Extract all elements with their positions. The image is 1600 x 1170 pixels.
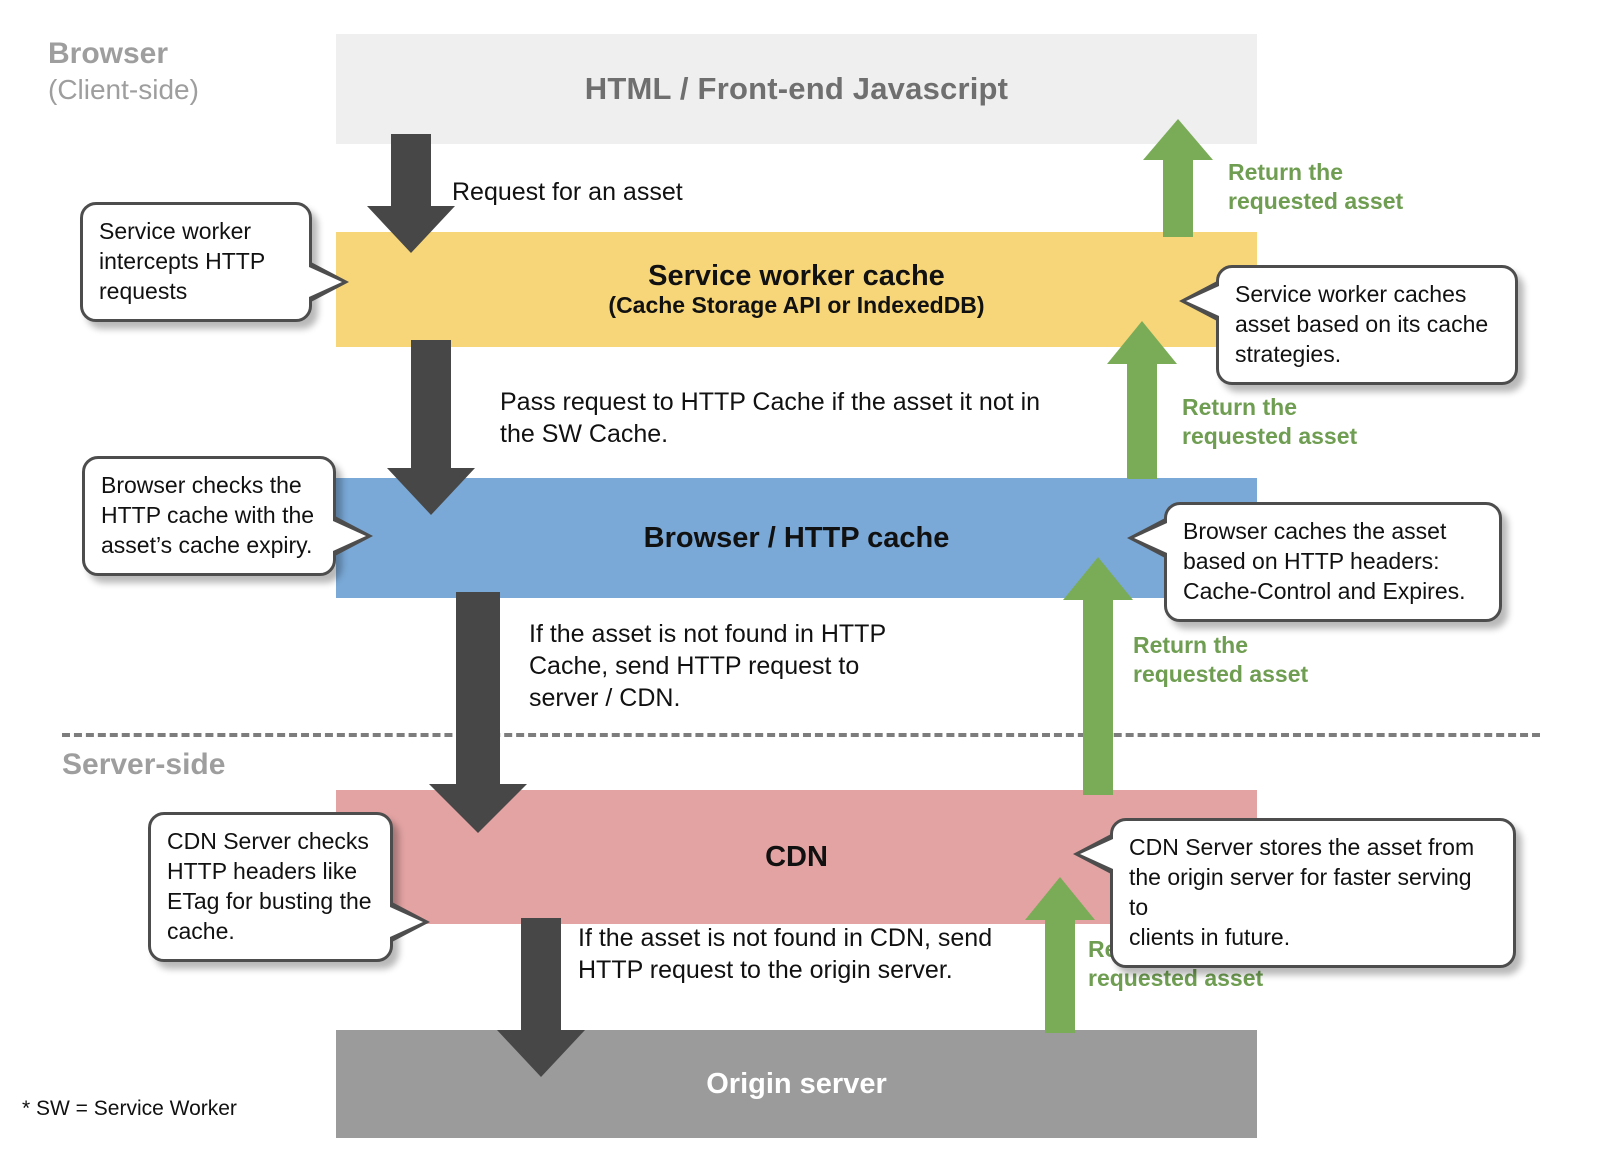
callout-cdn-check-line1: CDN Server checks	[167, 827, 374, 857]
note-not-found-cdn-line2: HTTP request to the origin server.	[578, 954, 992, 986]
callout-service-worker-intercepts: Service worker intercepts HTTP requests	[80, 202, 312, 322]
note-pass-request-line2: the SW Cache.	[500, 418, 1040, 450]
return-arrow-sw-to-html-icon	[1142, 118, 1214, 238]
callout-sw-caches-line2: asset based on its cache	[1235, 310, 1499, 340]
client-side-label-line2: (Client-side)	[48, 73, 199, 107]
note-request-for-an-asset-line1: Request for an asset	[452, 178, 683, 206]
note-asset-not-found-in-cdn: If the asset is not found in CDN, send H…	[578, 922, 992, 986]
request-arrow-http-to-cdn-icon	[428, 592, 528, 834]
return-label-http-to-sw: Return the requested asset	[1182, 393, 1357, 451]
return-label-4-line2: requested asset	[1088, 964, 1263, 993]
note-not-found-http-line3: server / CDN.	[529, 682, 886, 714]
return-label-3-line2: requested asset	[1133, 660, 1308, 689]
callout-sw-intercept-line3: requests	[99, 277, 293, 307]
callout-service-worker-caches-asset: Service worker caches asset based on its…	[1216, 265, 1518, 385]
return-label-2-line1: Return the	[1182, 393, 1357, 422]
band-html-frontend-javascript: HTML / Front-end Javascript	[336, 34, 1257, 144]
callout-http-caches-line2: based on HTTP headers:	[1183, 547, 1483, 577]
callout-cdn-stores-line2: the origin server for faster serving to	[1129, 863, 1497, 923]
callout-sw-intercept-line1: Service worker	[99, 217, 293, 247]
band-html-title: HTML / Front-end Javascript	[585, 71, 1008, 107]
note-pass-request-to-http-cache: Pass request to HTTP Cache if the asset …	[500, 386, 1040, 450]
return-arrow-http-to-sw-icon	[1106, 320, 1178, 480]
client-server-divider	[62, 733, 1540, 737]
band-cdn-title: CDN	[765, 841, 828, 874]
footnote-sw-abbreviation: * SW = Service Worker	[22, 1097, 237, 1121]
request-arrow-sw-to-http-icon	[386, 340, 476, 516]
band-origin-server-title: Origin server	[706, 1068, 887, 1101]
band-service-worker-title: Service worker cache	[608, 260, 984, 292]
cache-flow-diagram: Browser (Client-side) Server-side HTML /…	[0, 0, 1600, 1170]
callout-http-check-line1: Browser checks the	[101, 471, 317, 501]
callout-cdn-check-line4: cache.	[167, 917, 374, 947]
client-side-section-label: Browser (Client-side)	[48, 36, 199, 107]
server-side-section-label: Server-side	[62, 748, 225, 782]
callout-cdn-server-checks-headers: CDN Server checks HTTP headers like ETag…	[148, 812, 393, 962]
callout-cdn-server-stores-asset: CDN Server stores the asset from the ori…	[1110, 818, 1516, 968]
callout-http-caches-line3: Cache-Control and Expires.	[1183, 577, 1483, 607]
return-label-2-line2: requested asset	[1182, 422, 1357, 451]
callout-cdn-check-line2: HTTP headers like	[167, 857, 374, 887]
callout-http-check-line2: HTTP cache with the	[101, 501, 317, 531]
note-not-found-http-line2: Cache, send HTTP request to	[529, 650, 886, 682]
note-request-for-an-asset: Request for an asset	[452, 176, 683, 208]
return-label-3-line1: Return the	[1133, 631, 1308, 660]
note-asset-not-found-in-http-cache: If the asset is not found in HTTP Cache,…	[529, 618, 886, 714]
return-label-1-line2: requested asset	[1228, 187, 1403, 216]
callout-browser-checks-http-cache: Browser checks the HTTP cache with the a…	[82, 456, 336, 576]
request-arrow-cdn-to-origin-icon	[496, 918, 586, 1078]
return-arrow-cdn-to-http-icon	[1062, 556, 1134, 796]
callout-cdn-check-line3: ETag for busting the	[167, 887, 374, 917]
client-side-label-line1: Browser	[48, 36, 199, 73]
callout-browser-caches-asset: Browser caches the asset based on HTTP h…	[1164, 502, 1502, 622]
callout-sw-caches-line3: strategies.	[1235, 340, 1499, 370]
return-arrow-origin-to-cdn-icon	[1024, 876, 1096, 1034]
return-label-sw-to-html: Return the requested asset	[1228, 158, 1403, 216]
return-label-cdn-to-http: Return the requested asset	[1133, 631, 1308, 689]
note-not-found-http-line1: If the asset is not found in HTTP	[529, 618, 886, 650]
callout-cdn-stores-line3: clients in future.	[1129, 923, 1497, 953]
note-not-found-cdn-line1: If the asset is not found in CDN, send	[578, 922, 992, 954]
band-origin-server: Origin server	[336, 1030, 1257, 1138]
callout-http-caches-line1: Browser caches the asset	[1183, 517, 1483, 547]
band-http-cache-title: Browser / HTTP cache	[644, 522, 950, 555]
callout-sw-intercept-line2: intercepts HTTP	[99, 247, 293, 277]
request-arrow-html-to-sw-icon	[366, 134, 456, 254]
callout-cdn-stores-line1: CDN Server stores the asset from	[1129, 833, 1497, 863]
callout-sw-caches-line1: Service worker caches	[1235, 280, 1499, 310]
band-service-worker-subtitle: (Cache Storage API or IndexedDB)	[608, 292, 984, 319]
callout-http-check-line3: asset’s cache expiry.	[101, 531, 317, 561]
return-label-1-line1: Return the	[1228, 158, 1403, 187]
note-pass-request-line1: Pass request to HTTP Cache if the asset …	[500, 386, 1040, 418]
